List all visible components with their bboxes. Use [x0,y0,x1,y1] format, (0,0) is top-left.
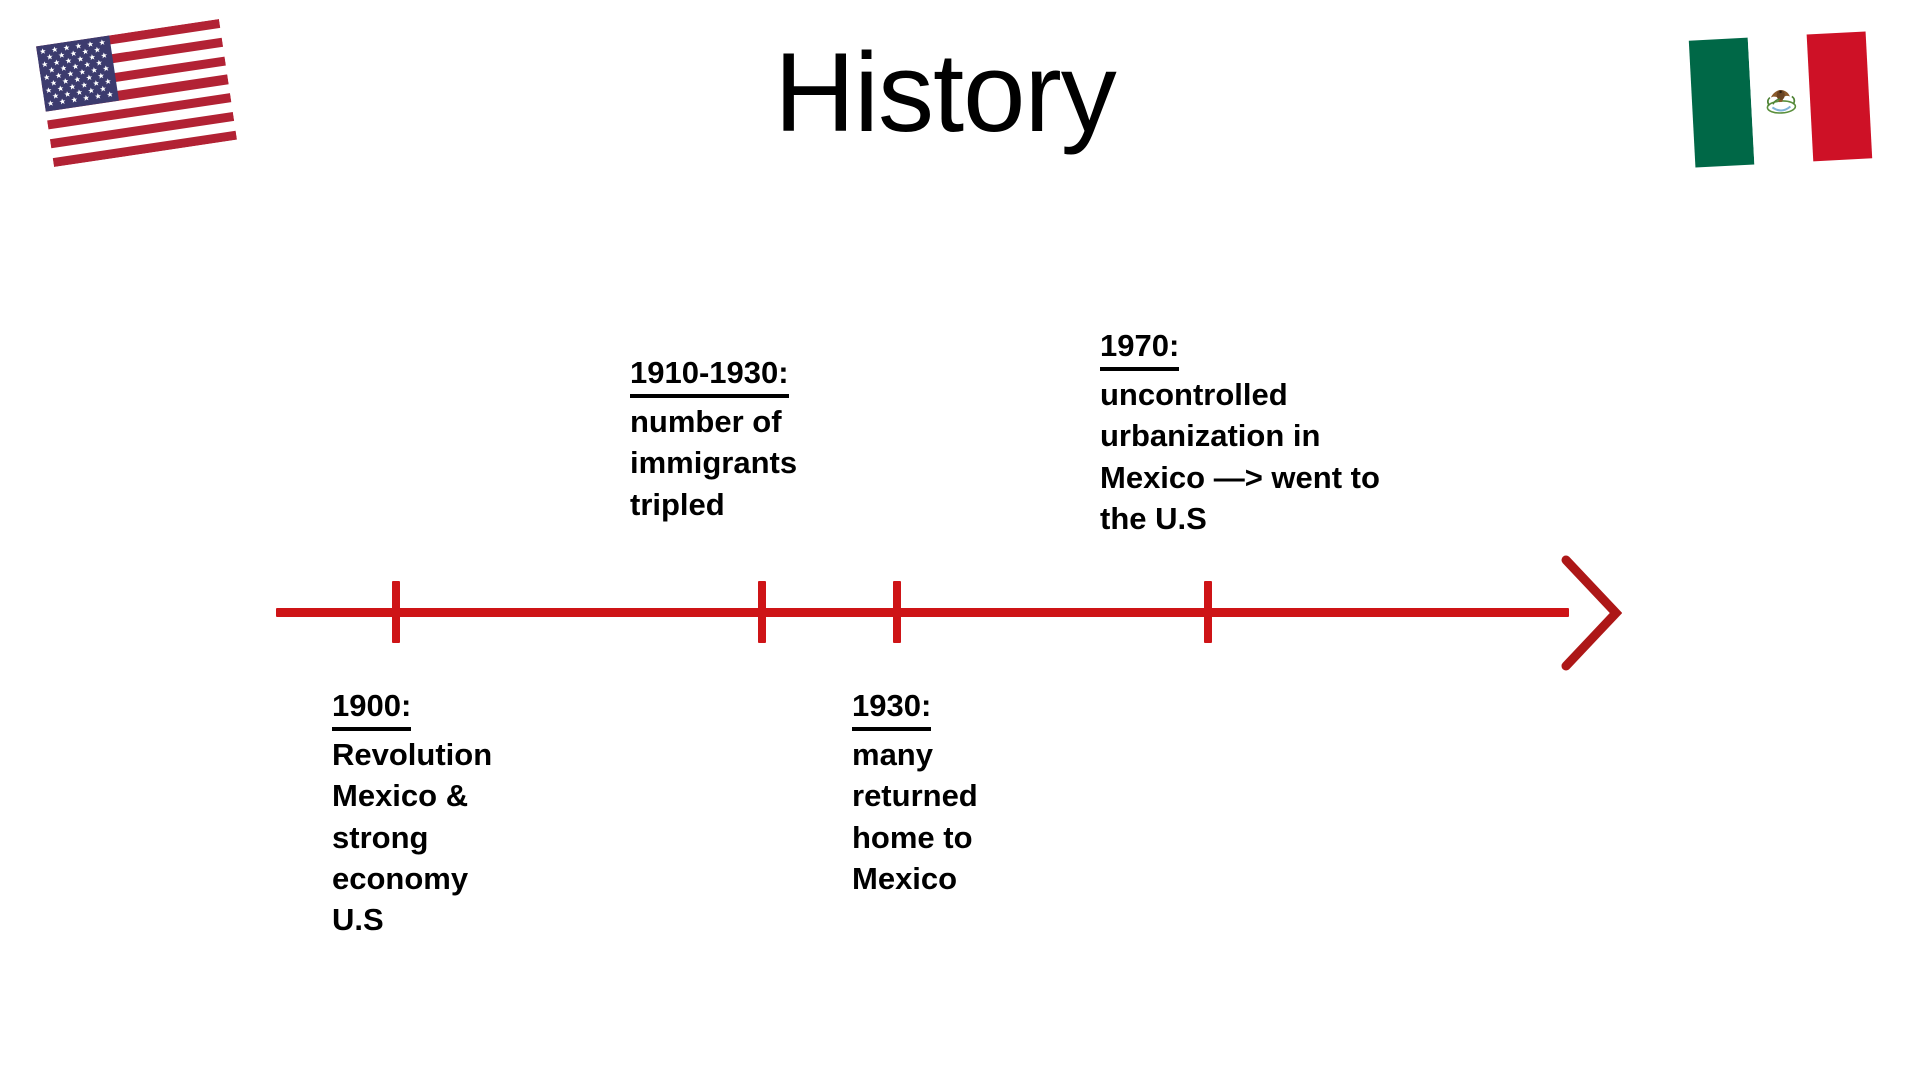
timeline-event-1930: 1930: many returned home to Mexico [852,685,1082,899]
timeline-tick-1910-1930 [758,581,766,643]
timeline-tick-1900 [392,581,400,643]
timeline-tick-1930 [893,581,901,643]
timeline-event-body: Revolution Mexico & strong economy U.S [332,734,582,940]
timeline-tick-1970 [1204,581,1212,643]
timeline-axis [276,608,1569,617]
timeline-event-year-label: 1900: [332,685,411,731]
timeline-event-year-label: 1930: [852,685,931,731]
timeline-event-1910-1930: 1910-1930: number of immigrants tripled [630,352,880,525]
timeline-event-year-label: 1970: [1100,325,1179,371]
timeline-event-year-label: 1910-1930: [630,352,789,398]
slide-canvas: History 1910-1930: number of immigrants … [0,0,1920,1080]
timeline-event-body: many returned home to Mexico [852,734,1082,899]
timeline-event-1970: 1970: uncontrolled urbanization in Mexic… [1100,325,1510,539]
timeline-event-body: uncontrolled urbanization in Mexico —> w… [1100,374,1510,539]
timeline-event-body: number of immigrants tripled [630,401,880,525]
page-title: History [0,36,1890,150]
timeline-event-1900: 1900: Revolution Mexico & strong economy… [332,685,582,940]
chevron-right-icon [1560,554,1622,672]
timeline-arrow-icon [1560,554,1622,672]
